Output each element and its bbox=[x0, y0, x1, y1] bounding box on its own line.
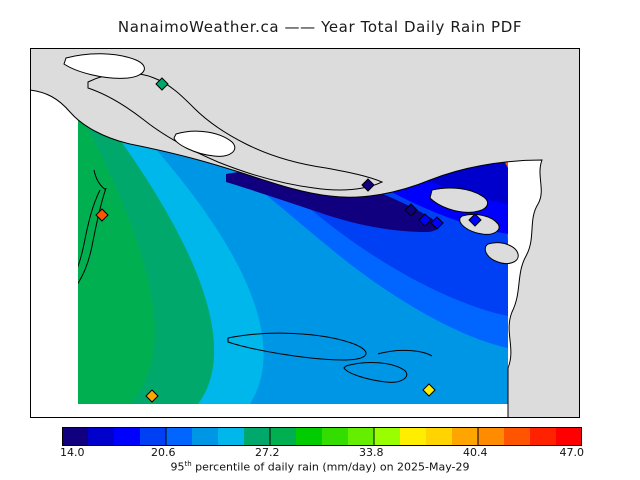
weather-map-figure: NanaimoWeather.ca —— Year Total Daily Ra… bbox=[0, 0, 640, 480]
colorbar-tick-labels: 14.020.627.233.840.447.0 bbox=[0, 446, 640, 460]
colorbar-swatch bbox=[218, 427, 245, 446]
colorbar-swatch bbox=[192, 427, 219, 446]
colorbar-tick-label: 47.0 bbox=[560, 446, 585, 459]
colorbar-swatch bbox=[270, 427, 297, 446]
colorbar bbox=[62, 427, 582, 446]
caption-ordinal-suffix: th bbox=[184, 460, 191, 468]
colorbar-swatches bbox=[62, 427, 582, 446]
colorbar-swatch bbox=[504, 427, 531, 446]
colorbar-swatch bbox=[62, 427, 89, 446]
colorbar-swatch bbox=[426, 427, 453, 446]
colorbar-swatch bbox=[296, 427, 323, 446]
colorbar-tick-label: 14.0 bbox=[60, 446, 85, 459]
colorbar-swatch bbox=[452, 427, 479, 446]
colorbar-swatch bbox=[374, 427, 401, 446]
colorbar-swatch bbox=[400, 427, 427, 446]
colorbar-swatch bbox=[114, 427, 141, 446]
map-panel bbox=[30, 48, 580, 418]
colorbar-swatch bbox=[322, 427, 349, 446]
map-canvas bbox=[30, 48, 580, 418]
colorbar-caption: 95th percentile of daily rain (mm/day) o… bbox=[0, 460, 640, 474]
colorbar-swatch bbox=[478, 427, 505, 446]
colorbar-swatch bbox=[530, 427, 557, 446]
colorbar-tick-label: 20.6 bbox=[151, 446, 176, 459]
colorbar-tick-label: 33.8 bbox=[359, 446, 384, 459]
colorbar-swatch bbox=[556, 427, 582, 446]
caption-percentile-number: 95 bbox=[170, 461, 184, 474]
colorbar-swatch bbox=[140, 427, 167, 446]
colorbar-swatch bbox=[88, 427, 115, 446]
colorbar-canvas bbox=[62, 427, 582, 446]
caption-text: percentile of daily rain (mm/day) on 202… bbox=[192, 461, 470, 474]
colorbar-tick-label: 40.4 bbox=[463, 446, 488, 459]
figure-title: NanaimoWeather.ca —— Year Total Daily Ra… bbox=[0, 18, 640, 36]
colorbar-swatch bbox=[244, 427, 271, 446]
colorbar-swatch bbox=[348, 427, 375, 446]
colorbar-swatch bbox=[166, 427, 193, 446]
colorbar-tick-label: 27.2 bbox=[255, 446, 280, 459]
